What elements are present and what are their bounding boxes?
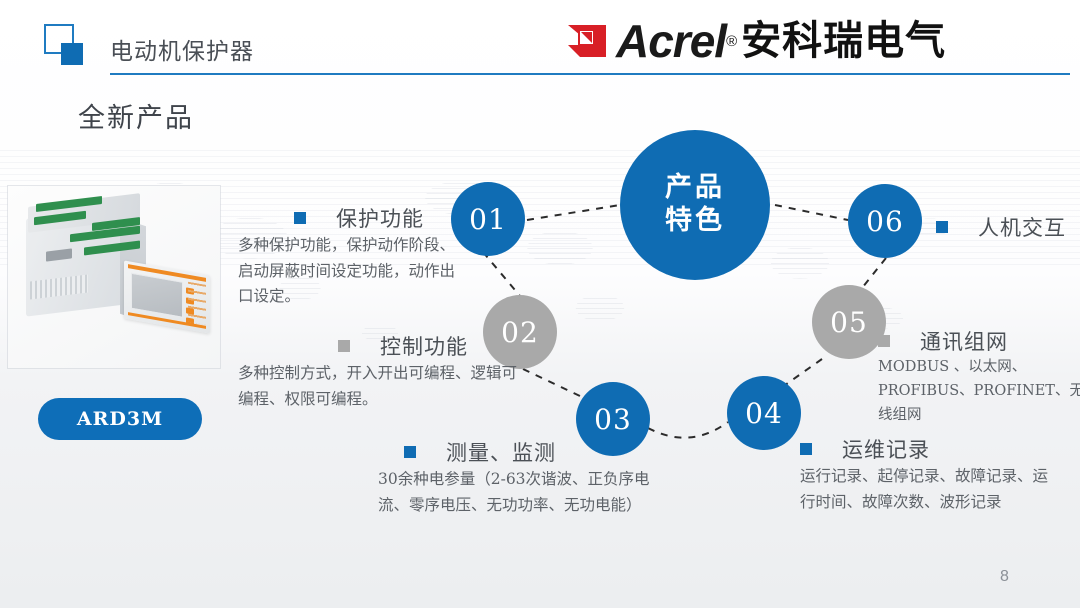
logo-chinese-name: 安科瑞电气: [741, 21, 946, 61]
logo-square-icon: [44, 24, 88, 68]
feature-header-06: 人机交互: [936, 212, 1080, 242]
acrel-mark-icon: [566, 21, 610, 61]
logo-wordmark: Acrel: [616, 18, 726, 64]
node-circle-04[interactable]: 04: [727, 376, 801, 450]
display-indicator-leds: [188, 282, 206, 325]
bullet-square-icon: [404, 446, 416, 458]
product-model-badge: ARD3M: [38, 398, 202, 440]
header-divider: [110, 73, 1070, 75]
feature-block-02: 控制功能 多种控制方式，开入开出可编程、逻辑可编程、权限可编程。: [238, 331, 528, 412]
bullet-square-icon: [294, 212, 306, 224]
node-circle-05[interactable]: 05: [812, 285, 886, 359]
feature-body-03: 30余种电参量（2-63次谐波、正负序电流、零序电压、无功功率、无功电能）: [378, 467, 650, 518]
bullet-square-icon: [800, 443, 812, 455]
square-filled-shape: [61, 43, 83, 65]
feature-body-05: MODBUS 、以太网、PROFIBUS、PROFINET、无线组网: [878, 356, 1080, 428]
feature-title-01: 保护功能: [336, 203, 424, 233]
center-circle-product-features: 产品 特色: [620, 130, 770, 280]
feature-title-02: 控制功能: [380, 331, 468, 361]
feature-block-04: 运维记录 运行记录、起停记录、故障记录、运行时间、故障次数、波形记录: [800, 434, 1062, 515]
bullet-square-icon: [878, 335, 890, 347]
center-line-1: 产品: [665, 172, 725, 205]
node-circle-06[interactable]: 06: [848, 184, 922, 258]
feature-block-01: 保护功能 多种保护功能，保护动作阶段、启动屏蔽时间设定功能，动作出口设定。: [238, 203, 470, 310]
feature-header-04: 运维记录: [800, 434, 1062, 464]
feature-block-03: 测量、监测 30余种电参量（2-63次谐波、正负序电流、零序电压、无功功率、无功…: [378, 437, 650, 518]
feature-body-01: 多种保护功能，保护动作阶段、启动屏蔽时间设定功能，动作出口设定。: [238, 233, 470, 310]
acrel-logo: Acrel ® 安科瑞电气: [566, 14, 946, 68]
feature-header-01: 保护功能: [238, 203, 470, 233]
page-title: 电动机保护器: [110, 32, 254, 66]
section-title: 全新产品: [78, 96, 194, 135]
product-photo: [8, 186, 220, 368]
feature-body-02: 多种控制方式，开入开出可编程、逻辑可编程、权限可编程。: [238, 361, 528, 412]
display-lcd-screen: [131, 273, 183, 318]
center-line-2: 特色: [665, 205, 725, 238]
feature-title-03: 测量、监测: [446, 437, 556, 467]
feature-header-05: 通讯组网: [878, 326, 1080, 356]
slide-canvas: 电动机保护器 Acrel ® 安科瑞电气 全新产品: [0, 0, 1080, 608]
feature-block-05: 通讯组网 MODBUS 、以太网、PROFIBUS、PROFINET、无线组网: [878, 326, 1080, 428]
feature-title-04: 运维记录: [842, 434, 930, 464]
display-unit: [124, 260, 210, 333]
feature-header-03: 测量、监测: [378, 437, 650, 467]
bullet-square-icon: [936, 221, 948, 233]
bullet-square-icon: [338, 340, 350, 352]
feature-title-05: 通讯组网: [920, 326, 1008, 356]
feature-header-02: 控制功能: [238, 331, 528, 361]
feature-body-04: 运行记录、起停记录、故障记录、运行时间、故障次数、波形记录: [800, 464, 1062, 515]
feature-block-06: 人机交互: [936, 212, 1080, 242]
feature-title-06: 人机交互: [978, 212, 1066, 242]
page-number: 8: [1000, 568, 1009, 586]
registered-trademark-icon: ®: [726, 33, 737, 50]
